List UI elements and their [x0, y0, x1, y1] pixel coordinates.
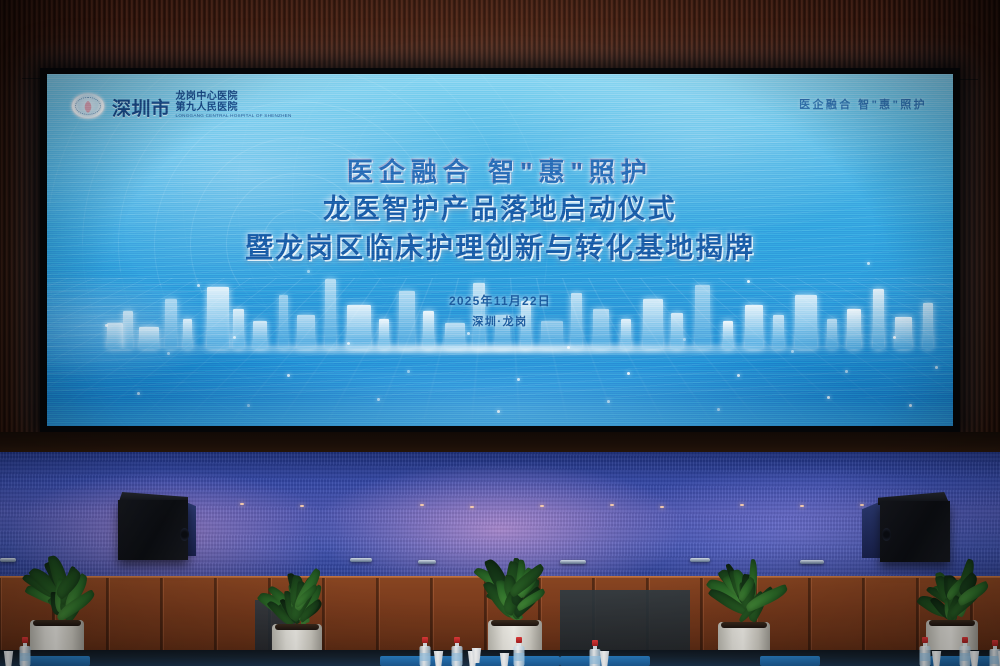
- screen-content: 深圳市 龙岗中心医院 第九人民医院 LONGGANG CENTRAL HOSPI…: [47, 74, 953, 426]
- water-bottle: [918, 637, 932, 666]
- water-bottle: [18, 637, 32, 666]
- speaker-port-right: [882, 528, 891, 541]
- led-screen: 深圳市 龙岗中心医院 第九人民医院 LONGGANG CENTRAL HOSPI…: [47, 74, 953, 426]
- water-bottle: [450, 637, 464, 666]
- hospital-crest-emblem: [71, 93, 105, 119]
- bottle-label: [420, 653, 431, 661]
- hospital-name-line1: 龙岗中心医院: [176, 92, 292, 103]
- speaker-body-left: [118, 500, 188, 560]
- bottle-label: [20, 653, 31, 661]
- water-bottle: [588, 640, 602, 666]
- hospital-logo-text: 深圳市 龙岗中心医院 第九人民医院 LONGGANG CENTRAL HOSPI…: [112, 92, 292, 119]
- led-screen-frame: 深圳市 龙岗中心医院 第九人民医院 LONGGANG CENTRAL HOSPI…: [40, 68, 960, 432]
- bottle-label: [590, 656, 601, 664]
- table-skirt: [760, 656, 820, 666]
- hospital-name-english: LONGGANG CENTRAL HOSPITAL OF SHENZHEN: [176, 114, 292, 119]
- event-date: 2025年11月22日: [47, 292, 953, 309]
- bottle-label: [452, 653, 463, 661]
- hospital-city-label: 深圳市: [112, 100, 171, 119]
- water-bottle: [512, 637, 526, 666]
- event-place: 深圳·龙岗: [47, 313, 953, 329]
- hospital-name-block: 龙岗中心医院 第九人民医院 LONGGANG CENTRAL HOSPITAL …: [176, 92, 292, 119]
- speaker-port-left: [180, 528, 189, 541]
- hospital-name-line2: 第九人民医院: [176, 103, 292, 114]
- stage-monitor-speaker-right: [862, 492, 952, 562]
- stage-monitor-speaker-left: [118, 492, 200, 560]
- title-line-2: 龙医智护产品落地启动仪式: [47, 193, 953, 226]
- title-line-3: 暨龙岗区临床护理创新与转化基地揭牌: [47, 231, 953, 265]
- bottle-label: [514, 653, 525, 661]
- event-title: 医企融合 智"惠"照护 龙医智护产品落地启动仪式 暨龙岗区临床护理创新与转化基地…: [47, 158, 953, 265]
- water-bottle: [418, 637, 432, 666]
- corner-slogan: 医企融合 智"惠"照护: [799, 96, 927, 112]
- conference-hall-photo: 深圳市 龙岗中心医院 第九人民医院 LONGGANG CENTRAL HOSPI…: [0, 0, 1000, 666]
- event-meta: 2025年11月22日 深圳·龙岗: [47, 292, 953, 329]
- bottle-label: [920, 653, 931, 661]
- bottle-label: [960, 653, 971, 661]
- hospital-logo: 深圳市 龙岗中心医院 第九人民医院 LONGGANG CENTRAL HOSPI…: [71, 92, 292, 119]
- title-line-1: 医企融合 智"惠"照护: [47, 158, 953, 187]
- bottle-label: [990, 656, 1000, 664]
